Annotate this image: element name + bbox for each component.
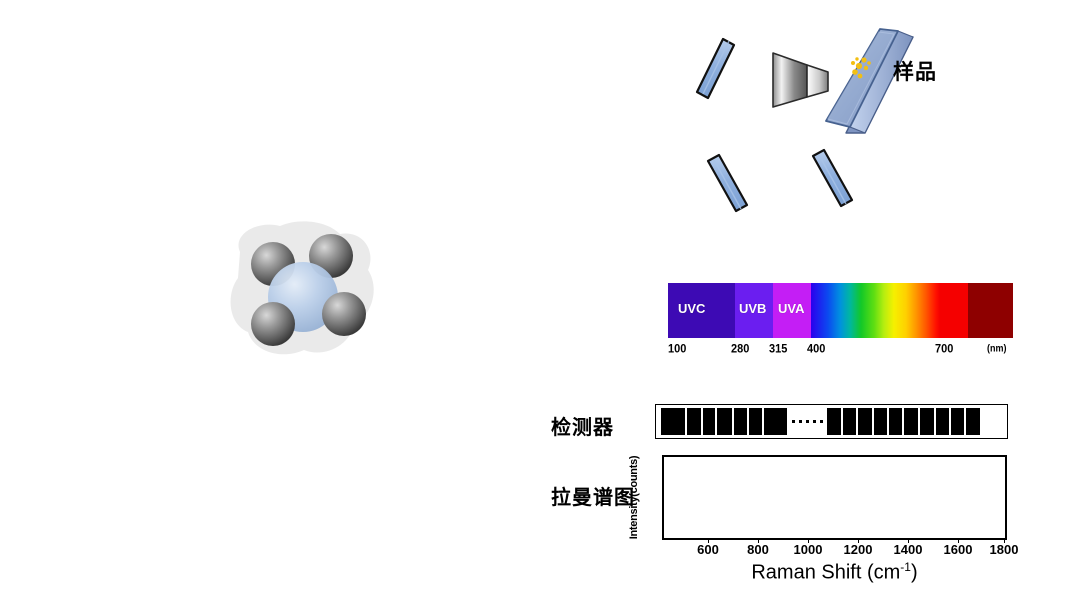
detector-pixel [703, 408, 715, 435]
uva-label: UVA [778, 301, 804, 316]
x-axis-title-close: ) [911, 562, 918, 584]
objective-lens [773, 53, 828, 107]
detector-pad [981, 405, 985, 438]
diagram-canvas: 样品 UVC UVB UVA 100 280 315 400 700 (nm) … [0, 0, 1079, 607]
ellipsis-dot [799, 420, 802, 423]
molecule-atom-outer [322, 292, 366, 336]
x-axis-title-exponent: -1 [900, 560, 911, 574]
mirror-1 [697, 39, 734, 98]
x-tick-800: 800 [747, 542, 769, 557]
sample-label: 样品 [893, 62, 937, 83]
detector-pixel [966, 408, 980, 435]
x-tick-1600: 1600 [944, 542, 973, 557]
detector-pixel [889, 408, 902, 435]
spectrum-tick-400: 400 [807, 342, 825, 355]
optical-setup [680, 15, 1000, 245]
mirror-2 [708, 155, 747, 211]
x-tick-1800: 1800 [990, 542, 1019, 557]
detector-pixel [843, 408, 856, 435]
x-axis-title: Raman Shift (cm-1) [662, 560, 1007, 585]
detector-ellipsis [788, 405, 826, 438]
detector-pixel [936, 408, 949, 435]
detector-pixel [734, 408, 747, 435]
spectrum-tick-100: 100 [668, 342, 686, 355]
x-tick-1400: 1400 [894, 542, 923, 557]
spectrum-gradient: UVC UVB UVA [668, 283, 1013, 338]
detector-pixel [687, 408, 701, 435]
detector-pixel [661, 408, 685, 435]
ellipsis-dot [820, 420, 823, 423]
x-tick-1000: 1000 [794, 542, 823, 557]
spectrum-unit-label: (nm) [987, 343, 1007, 354]
spectrum-tick-315: 315 [769, 342, 787, 355]
raman-plot-label: 拉曼谱图 [551, 481, 635, 510]
spectrum-tick-700: 700 [935, 342, 953, 355]
molecule-model [218, 212, 388, 362]
detector-label: 检测器 [551, 411, 614, 440]
molecule-atom-outer [251, 302, 295, 346]
detector-pixel [764, 408, 787, 435]
y-axis-label: Intensity(counts) [628, 455, 642, 540]
x-axis-title-text: Raman Shift (cm [751, 562, 900, 584]
detector-pixel [827, 408, 841, 435]
detector-pixel [858, 408, 872, 435]
x-tick-600: 600 [697, 542, 719, 557]
ellipsis-dot [813, 420, 816, 423]
mirror-3 [813, 150, 852, 206]
uvc-label: UVC [678, 301, 705, 316]
detector-array [655, 404, 1008, 439]
electromagnetic-spectrum-bar: UVC UVB UVA 100 280 315 400 700 (nm) [668, 283, 1013, 365]
detector-pixel [717, 408, 732, 435]
ellipsis-dot [792, 420, 795, 423]
detector-pixel [749, 408, 762, 435]
detector-pixel [874, 408, 887, 435]
detector-pixel [951, 408, 964, 435]
detector-pixel [904, 408, 918, 435]
spectrum-tick-280: 280 [731, 342, 749, 355]
ellipsis-dot [806, 420, 809, 423]
detector-pad [656, 405, 660, 438]
raman-plot-area [662, 455, 1007, 540]
x-tick-1200: 1200 [844, 542, 873, 557]
detector-pixel [920, 408, 934, 435]
uvb-label: UVB [739, 301, 766, 316]
